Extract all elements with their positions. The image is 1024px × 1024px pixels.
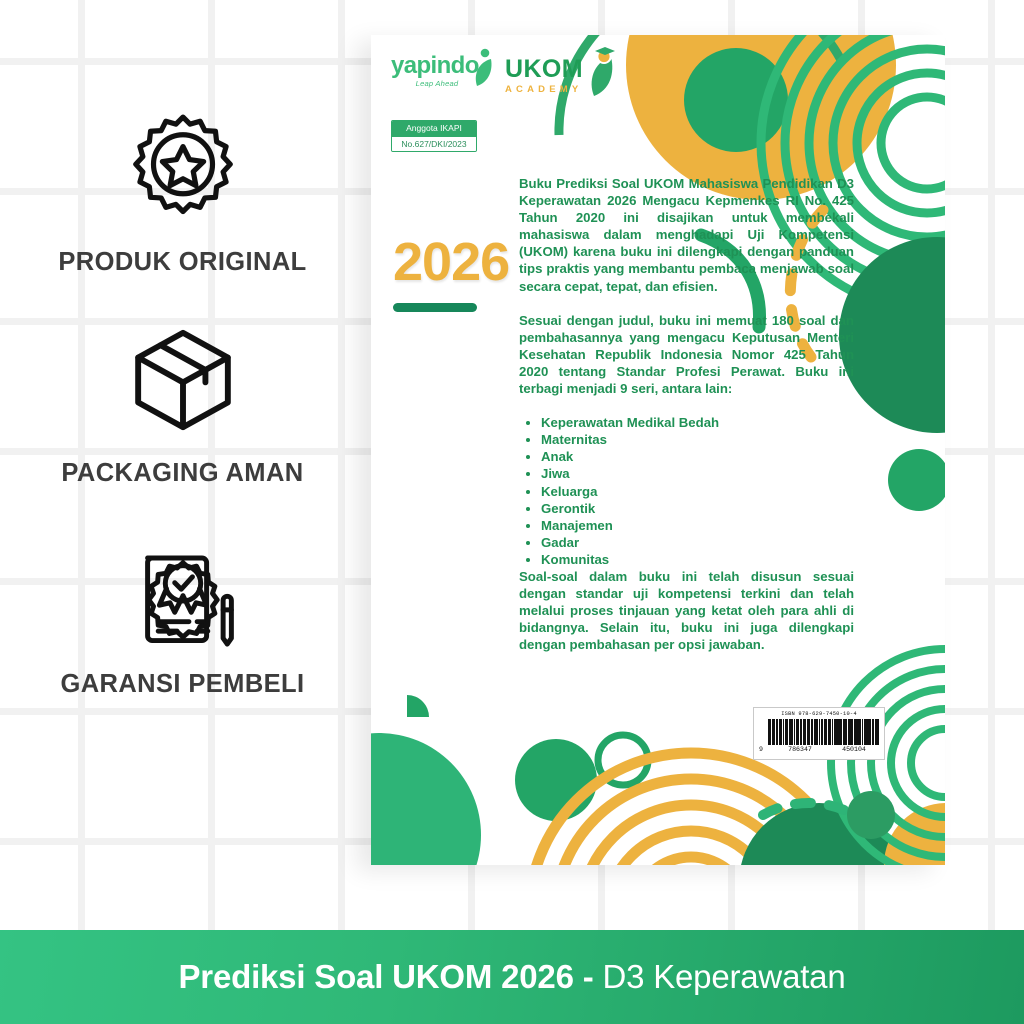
- list-item: Keluarga: [541, 483, 854, 500]
- list-item: Gadar: [541, 534, 854, 551]
- yapindo-wordmark: yapindo: [391, 54, 483, 78]
- isbn-barcode: ISBN 978-629-7450-10-4 9 786347 450104: [753, 707, 885, 760]
- barcode-group-right: 450104: [829, 746, 879, 753]
- paragraph-series-intro: Sesuai dengan judul, buku ini memuat 180…: [519, 312, 854, 397]
- list-item: Keperawatan Medikal Bedah: [541, 414, 854, 431]
- list-item: Anak: [541, 448, 854, 465]
- list-item: Gerontik: [541, 500, 854, 517]
- list-item: Manajemen: [541, 517, 854, 534]
- badge-star-icon: [124, 110, 242, 228]
- ukom-graduate-figure-icon: [585, 44, 621, 98]
- year-label: 2026: [393, 235, 533, 289]
- feature-label: GARANSI PEMBELI: [60, 670, 304, 699]
- ikapi-label: Anggota IKAPI: [392, 121, 476, 136]
- cover-description: Buku Prediksi Soal UKOM Mahasiswa Pendid…: [519, 175, 854, 653]
- barcode-bars: [759, 719, 879, 745]
- cover-logos: yapindo Leap Ahead UKOM ACADEMY: [391, 54, 615, 95]
- banner-title-bold: Prediksi Soal UKOM 2026 -: [179, 958, 603, 995]
- yapindo-leaf-figure-icon: [471, 48, 497, 88]
- barcode-digit-prefix: 9: [759, 746, 771, 753]
- feature-item-packaging-aman: PACKAGING AMAN: [0, 321, 365, 488]
- list-item: Komunitas: [541, 551, 854, 568]
- isbn-text: ISBN 978-629-7450-10-4: [759, 711, 879, 717]
- paragraph-closing: Soal-soal dalam buku ini telah disusun s…: [519, 568, 854, 653]
- package-box-icon: [124, 321, 242, 439]
- yapindo-logo: yapindo Leap Ahead: [391, 54, 483, 88]
- ikapi-membership-badge: Anggota IKAPI No.627/DKI/2023: [391, 120, 477, 152]
- year-block: 2026: [393, 235, 533, 312]
- list-item: Maternitas: [541, 431, 854, 448]
- barcode-digits: 9 786347 450104: [759, 746, 879, 753]
- year-underline: [393, 303, 477, 312]
- ikapi-number: No.627/DKI/2023: [392, 136, 476, 152]
- ukom-academy-logo: UKOM ACADEMY: [505, 54, 615, 95]
- feature-item-garansi-pembeli: GARANSI PEMBELI: [0, 532, 365, 699]
- banner-title-light: D3 Keperawatan: [602, 958, 845, 995]
- list-item: Jiwa: [541, 465, 854, 482]
- bottom-title-banner: Prediksi Soal UKOM 2026 - D3 Keperawatan: [0, 930, 1024, 1024]
- feature-list: PRODUK ORIGINAL PACKAGING AMAN: [0, 110, 365, 743]
- feature-item-produk-original: PRODUK ORIGINAL: [0, 110, 365, 277]
- certificate-seal-pen-icon: [124, 532, 242, 650]
- paragraph-intro: Buku Prediksi Soal UKOM Mahasiswa Pendid…: [519, 175, 854, 295]
- series-list: Keperawatan Medikal Bedah Maternitas Ana…: [541, 414, 854, 568]
- barcode-group-left: 786347: [771, 746, 829, 753]
- feature-label: PRODUK ORIGINAL: [58, 248, 306, 277]
- feature-label: PACKAGING AMAN: [61, 459, 303, 488]
- yapindo-tagline: Leap Ahead: [391, 79, 483, 88]
- banner-title: Prediksi Soal UKOM 2026 - D3 Keperawatan: [179, 958, 846, 996]
- book-cover-image: yapindo Leap Ahead UKOM ACADEMY Anggota …: [371, 35, 945, 865]
